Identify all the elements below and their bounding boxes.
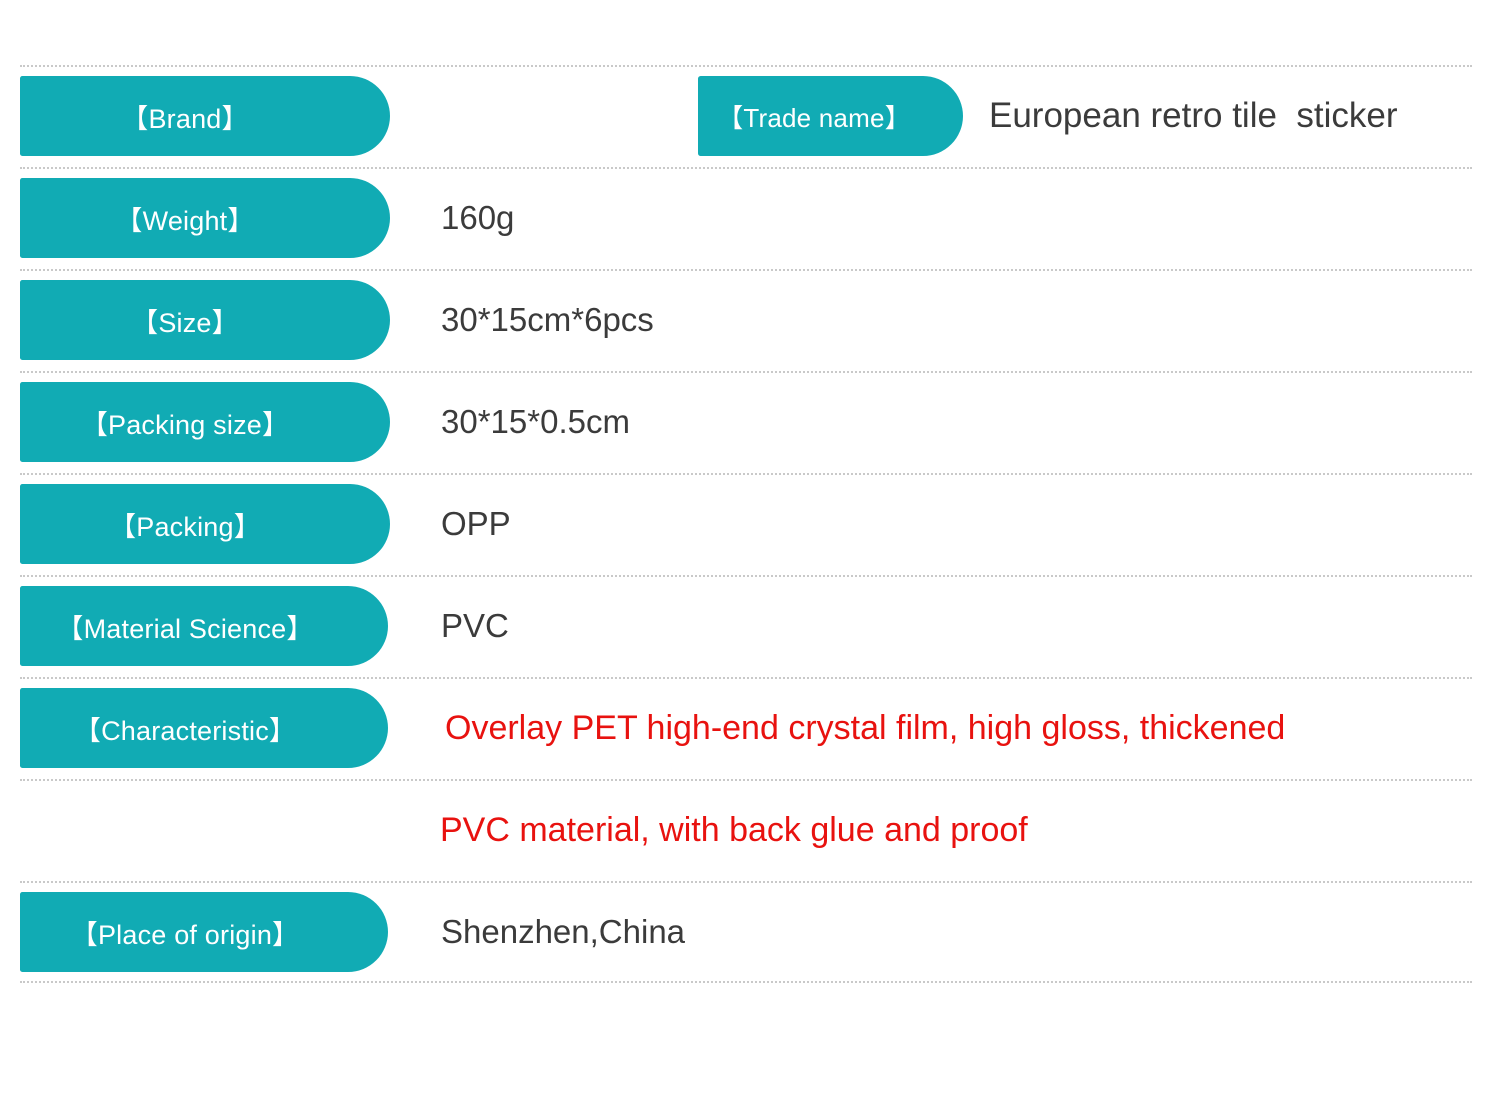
spec-row-material-science: 【Material Science】 PVC (0, 575, 1500, 677)
spec-label-text: 【Weight】 (20, 178, 350, 258)
spec-label-text: 【Place of origin】 (20, 892, 350, 972)
spec-value-size: 30*15cm*6pcs (441, 280, 654, 360)
product-spec-sheet: 【Brand】 【Trade name】 European retro tile… (0, 0, 1500, 1098)
spec-value-weight: 160g (441, 178, 514, 258)
spec-label-text: 【Brand】 (20, 76, 350, 156)
row-divider (20, 575, 1472, 577)
row-divider (20, 677, 1472, 679)
spec-label-pill-packing: 【Packing】 (20, 484, 390, 564)
row-divider (20, 473, 1472, 475)
row-divider (20, 981, 1472, 983)
row-divider (20, 881, 1472, 883)
spec-label-pill-weight: 【Weight】 (20, 178, 390, 258)
spec-row-characteristic: 【Characteristic】 Overlay PET high-end cr… (0, 677, 1500, 779)
spec-row-size: 【Size】 30*15cm*6pcs (0, 269, 1500, 371)
spec-label-pill-size: 【Size】 (20, 280, 390, 360)
spec-label-text: 【Packing size】 (20, 382, 350, 462)
spec-label-text: 【Material Science】 (20, 586, 350, 666)
row-divider (20, 167, 1472, 169)
spec-value-characteristic-continued: PVC material, with back glue and proof (440, 790, 1028, 870)
spec-row-brand: 【Brand】 【Trade name】 European retro tile… (0, 65, 1500, 167)
spec-label-text: 【Trade name】 (698, 76, 930, 156)
spec-label-pill-place-of-origin: 【Place of origin】 (20, 892, 388, 972)
row-divider (20, 371, 1472, 373)
spec-label-text: 【Size】 (20, 280, 350, 360)
spec-value-packing: OPP (441, 484, 511, 564)
spec-value-characteristic: Overlay PET high-end crystal film, high … (445, 688, 1285, 768)
spec-row-weight: 【Weight】 160g (0, 167, 1500, 269)
spec-label-pill-characteristic: 【Characteristic】 (20, 688, 388, 768)
spec-label-pill-packing-size: 【Packing size】 (20, 382, 390, 462)
row-divider (20, 779, 1472, 781)
row-divider (20, 269, 1472, 271)
spec-row-characteristic-continued: PVC material, with back glue and proof (0, 779, 1500, 881)
spec-value-place-of-origin: Shenzhen,China (441, 892, 685, 972)
spec-label-text: 【Characteristic】 (20, 688, 350, 768)
spec-row-packing-size: 【Packing size】 30*15*0.5cm (0, 371, 1500, 473)
spec-label-pill-brand: 【Brand】 (20, 76, 390, 156)
spec-row-place-of-origin: 【Place of origin】 Shenzhen,China (0, 881, 1500, 983)
spec-label-pill-trade-name: 【Trade name】 (698, 76, 963, 156)
spec-table-bottom-divider (0, 981, 1500, 983)
spec-label-pill-material-science: 【Material Science】 (20, 586, 388, 666)
row-divider (20, 65, 1472, 67)
spec-value-trade-name: European retro tile sticker (989, 76, 1398, 156)
spec-value-material-science: PVC (441, 586, 509, 666)
spec-label-text: 【Packing】 (20, 484, 350, 564)
spec-value-packing-size: 30*15*0.5cm (441, 382, 630, 462)
spec-row-packing: 【Packing】 OPP (0, 473, 1500, 575)
